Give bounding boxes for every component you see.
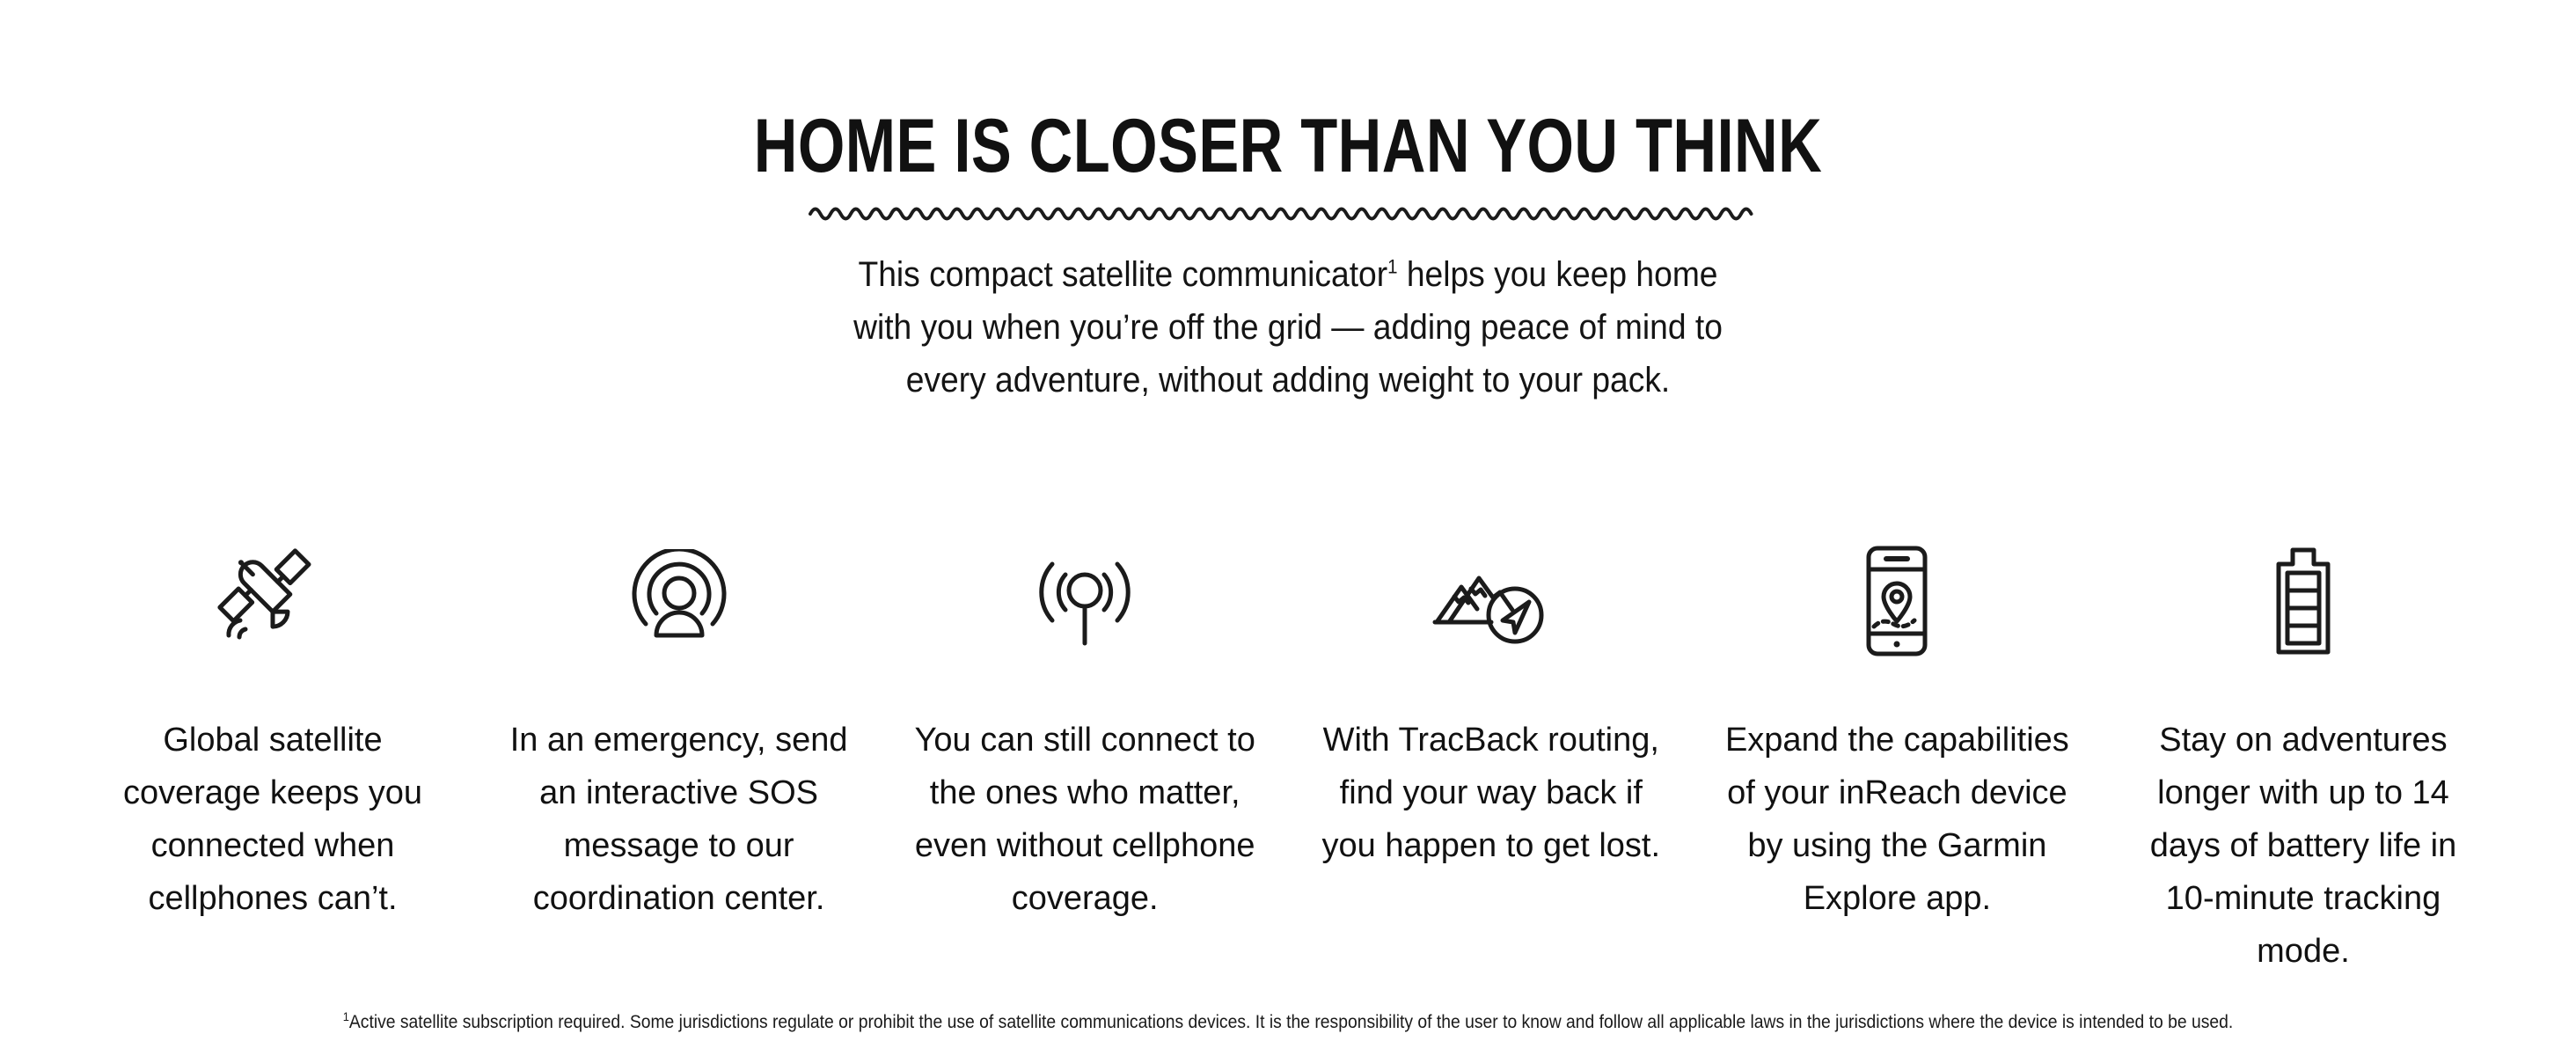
header: HOME IS CLOSER THAN YOU THINK This compa… xyxy=(0,106,2576,407)
feature-item: In an emergency, send an interactive SOS… xyxy=(477,546,882,925)
feature-caption: Global satellite coverage keeps you conn… xyxy=(97,714,449,925)
footnote-marker-inline: 1 xyxy=(1387,256,1397,278)
feature-item: You can still connect to the ones who ma… xyxy=(882,546,1287,925)
battery-icon xyxy=(2268,546,2338,656)
subheadline-line-2: with you when you’re off the grid — addi… xyxy=(853,308,1723,347)
subheadline: This compact satellite communicator1 hel… xyxy=(826,248,1751,407)
feature-item: Global satellite coverage keeps you conn… xyxy=(70,546,475,925)
feature-caption: Stay on adventures longer with up to 14 … xyxy=(2127,714,2479,978)
footnote-text: Active satellite subscription required. … xyxy=(349,1012,2233,1032)
feature-item: Expand the capabilities of your inReach … xyxy=(1694,546,2099,925)
marketing-feature-section: HOME IS CLOSER THAN YOU THINK This compa… xyxy=(0,0,2576,1056)
footnote: 1Active satellite subscription required.… xyxy=(103,1010,2473,1035)
feature-caption: Expand the capabilities of your inReach … xyxy=(1721,714,2073,925)
feature-list: Global satellite coverage keeps you conn… xyxy=(70,546,2506,978)
subheadline-line-3: every adventure, without adding weight t… xyxy=(906,361,1671,400)
feature-item: With TracBack routing, find your way bac… xyxy=(1289,546,1694,872)
feature-item: Stay on adventures longer with up to 14 … xyxy=(2101,546,2506,978)
smartphone-map-pin-icon xyxy=(1856,546,1937,656)
feature-caption: In an emergency, send an interactive SOS… xyxy=(503,714,855,925)
satellite-icon xyxy=(216,546,330,656)
subheadline-line-1-part-2: helps you keep home xyxy=(1398,255,1718,294)
feature-caption: With TracBack routing, find your way bac… xyxy=(1315,714,1667,872)
antenna-broadcast-icon xyxy=(1033,546,1137,656)
wavy-divider xyxy=(0,199,2576,229)
subheadline-line-1-part-1: This compact satellite communicator xyxy=(859,255,1388,294)
page-title: HOME IS CLOSER THAN YOU THINK xyxy=(258,106,2318,187)
sos-person-signal-icon xyxy=(627,546,731,656)
feature-caption: You can still connect to the ones who ma… xyxy=(909,714,1261,925)
mountains-navigation-arrow-icon xyxy=(1430,546,1553,656)
